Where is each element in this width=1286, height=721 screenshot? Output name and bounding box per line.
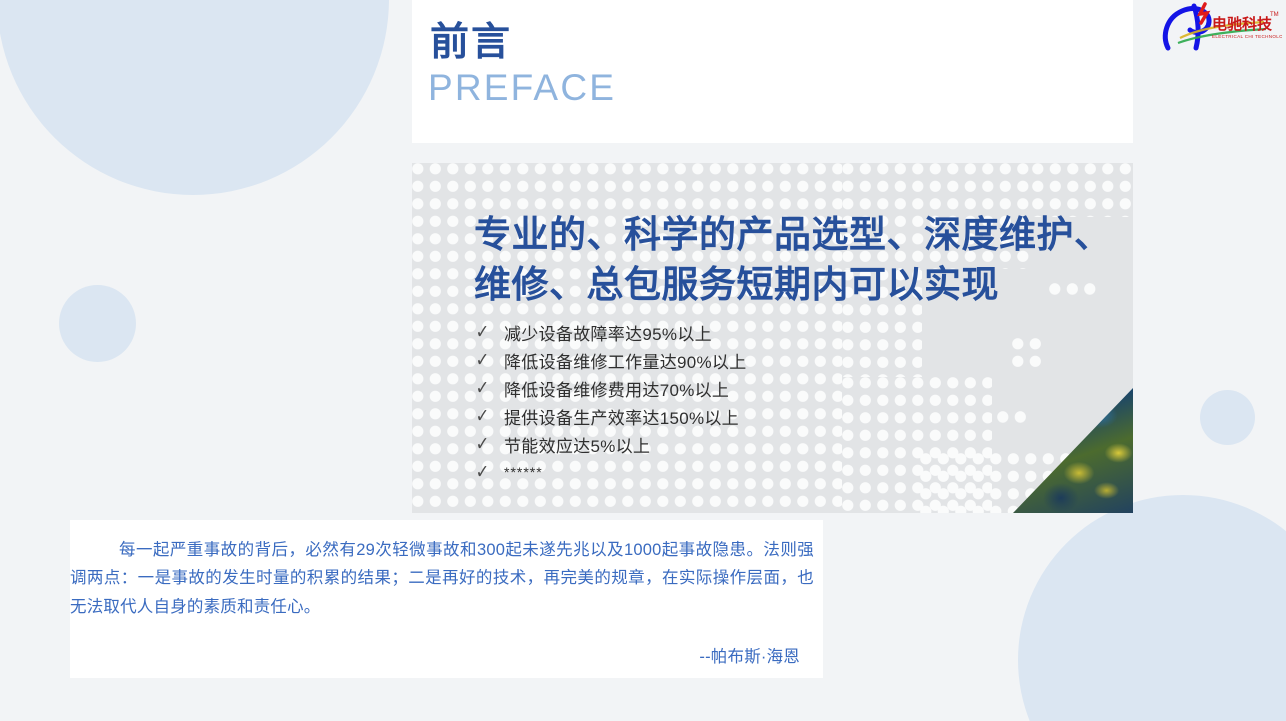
- brand-logo: 电驰科技 ELECTRICAL CHI TECHNOLOGY TM: [1160, 2, 1282, 54]
- check-icon: ✓: [476, 435, 495, 454]
- quote-box: 每一起严重事故的背后，必然有29次轻微事故和300起未遂先兆以及1000起事故隐…: [70, 520, 823, 678]
- check-icon: ✓: [476, 323, 495, 342]
- check-icon: ✓: [476, 379, 495, 398]
- dot-patch-f: [1012, 338, 1046, 372]
- list-item: ✓ 提供设备生产效率达150%以上: [474, 402, 747, 430]
- svg-text:ELECTRICAL CHI TECHNOLOGY: ELECTRICAL CHI TECHNOLOGY: [1212, 34, 1282, 39]
- check-icon: ✓: [476, 407, 495, 426]
- decorative-circle-bottom-right: [1018, 495, 1286, 721]
- list-item: ✓ 减少设备故障率达95%以上: [474, 318, 747, 346]
- decorative-circle-small-left: [59, 285, 136, 362]
- quote-body: 每一起严重事故的背后，必然有29次轻微事故和300起未遂先兆以及1000起事故隐…: [70, 536, 814, 621]
- decorative-circle-top-left: [0, 0, 389, 195]
- list-item: ✓ 降低设备维修费用达70%以上: [474, 374, 747, 402]
- list-item: ✓ ******: [474, 458, 747, 486]
- list-item-label: 降低设备维修费用达70%以上: [504, 376, 729, 401]
- page-title-en: PREFACE: [428, 68, 616, 109]
- dot-patch-h: [997, 411, 1031, 429]
- slide-canvas: 前言 PREFACE 电驰科技 ELECTRICAL CHI TECHNOLOG…: [0, 0, 1286, 721]
- quote-attribution: --帕布斯·海恩: [699, 643, 800, 667]
- benefit-list: ✓ 减少设备故障率达95%以上 ✓ 降低设备维修工作量达90%以上 ✓ 降低设备…: [474, 318, 747, 486]
- list-item-label: ******: [504, 464, 543, 480]
- svg-text:TM: TM: [1270, 12, 1279, 18]
- header-panel: 前言 PREFACE: [412, 0, 1133, 143]
- list-item-label: 减少设备故障率达95%以上: [504, 320, 712, 345]
- headline-text: 专业的、科学的产品选型、深度维护、维修、总包服务短期内可以实现: [474, 210, 1133, 311]
- check-icon: ✓: [476, 463, 495, 482]
- list-item-label: 节能效应达5%以上: [504, 432, 650, 457]
- svg-text:电驰科技: 电驰科技: [1212, 15, 1273, 33]
- check-icon: ✓: [476, 351, 495, 370]
- dot-patch-d: [1032, 163, 1133, 217]
- list-item: ✓ 节能效应达5%以上: [474, 430, 747, 458]
- decorative-circle-small-right: [1200, 390, 1255, 445]
- page-title-zh: 前言: [430, 22, 512, 65]
- content-panel: 专业的、科学的产品选型、深度维护、维修、总包服务短期内可以实现 ✓ 减少设备故障…: [412, 163, 1133, 513]
- list-item-label: 提供设备生产效率达150%以上: [504, 404, 739, 429]
- list-item: ✓ 降低设备维修工作量达90%以上: [474, 346, 747, 374]
- list-item-label: 降低设备维修工作量达90%以上: [504, 348, 747, 373]
